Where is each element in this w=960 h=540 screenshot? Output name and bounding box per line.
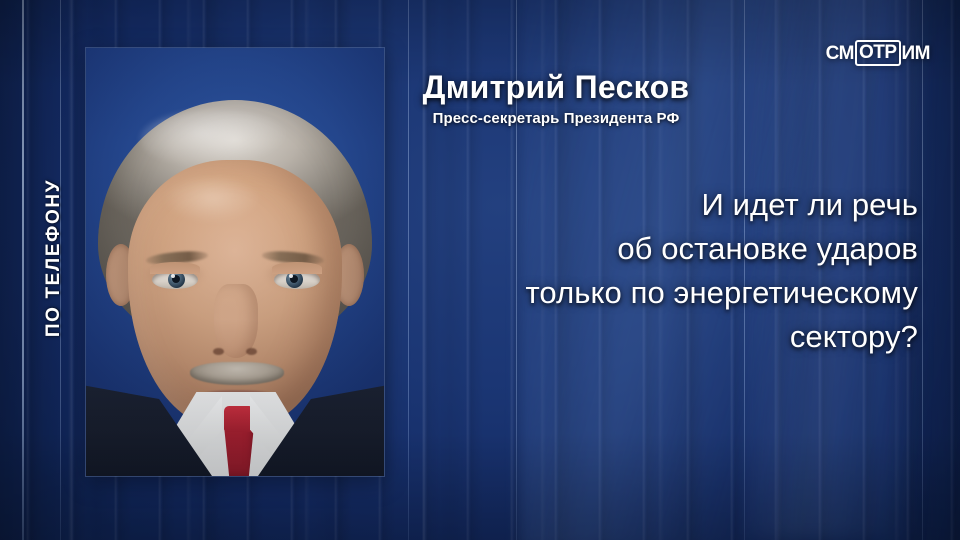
channel-logo-part-right: ИМ [902,44,930,63]
broadcast-stage: ПО ТЕЛЕФОНУ [0,0,960,540]
speaker-name: Дмитрий Песков [396,70,716,105]
channel-logo-part-left: СМ [826,44,854,63]
channel-logo-part-boxed: ОТР [855,40,901,66]
channel-logo-smotrim: СМ ОТР ИМ [826,40,930,66]
quote-line: об остановке ударов [398,227,918,271]
source-label-text: ПО ТЕЛЕФОНУ [43,178,65,336]
portrait-color-grade [86,48,384,476]
source-label-by-phone: ПО ТЕЛЕФОНУ [40,145,68,370]
quote-line: только по энергетическому [398,271,918,315]
speaker-role: Пресс-секретарь Президента РФ [396,110,716,127]
quote-line: И идет ли речь [398,183,918,227]
quote-line: сектору? [398,315,918,359]
speaker-portrait-photo [86,48,384,476]
speaker-identification: Дмитрий Песков Пресс-секретарь Президент… [396,70,716,127]
quote-text-block: И идет ли речь об остановке ударов тольк… [398,183,918,359]
